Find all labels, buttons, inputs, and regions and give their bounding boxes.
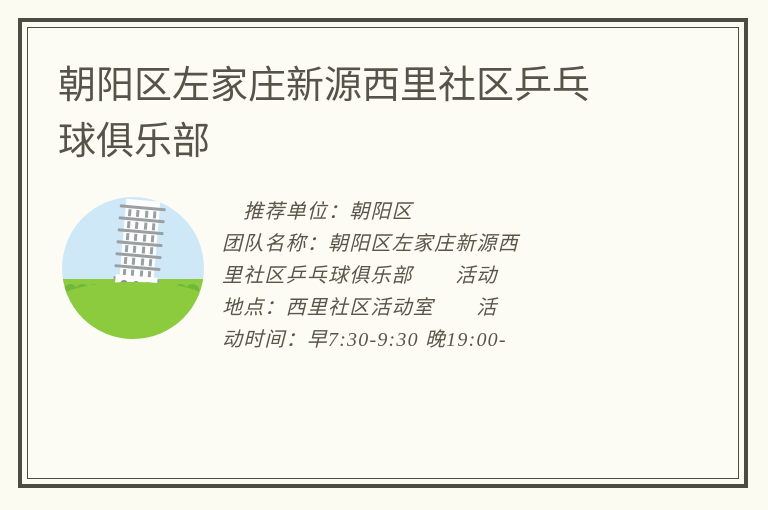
card-frame-inner: 朝阳区左家庄新源西里社区乒乓球俱乐部	[27, 27, 739, 479]
card-body: 推荐单位：朝阳区 团队名称：朝阳区左家庄新源西 里社区乒乓球俱乐部 活动 地点：…	[58, 192, 708, 356]
card-frame-outer: 朝阳区左家庄新源西里社区乒乓球俱乐部	[18, 18, 748, 488]
page-title: 朝阳区左家庄新源西里社区乒乓球俱乐部	[58, 58, 618, 170]
card-content: 朝阳区左家庄新源西里社区乒乓球俱乐部	[28, 28, 738, 478]
detail-line: 动时间：早7:30-9:30 晚19:00-	[222, 324, 708, 356]
details-text-block: 推荐单位：朝阳区 团队名称：朝阳区左家庄新源西 里社区乒乓球俱乐部 活动 地点：…	[208, 192, 708, 356]
detail-line: 地点：西里社区活动室 活	[222, 292, 708, 324]
grass-hill	[62, 282, 204, 339]
detail-line: 推荐单位：朝阳区	[222, 196, 708, 228]
detail-line: 团队名称：朝阳区左家庄新源西	[222, 228, 708, 260]
detail-line: 里社区乒乓球俱乐部 活动	[222, 260, 708, 292]
leaning-tower-of-pisa-icon	[62, 197, 204, 339]
avatar-container	[58, 192, 208, 339]
